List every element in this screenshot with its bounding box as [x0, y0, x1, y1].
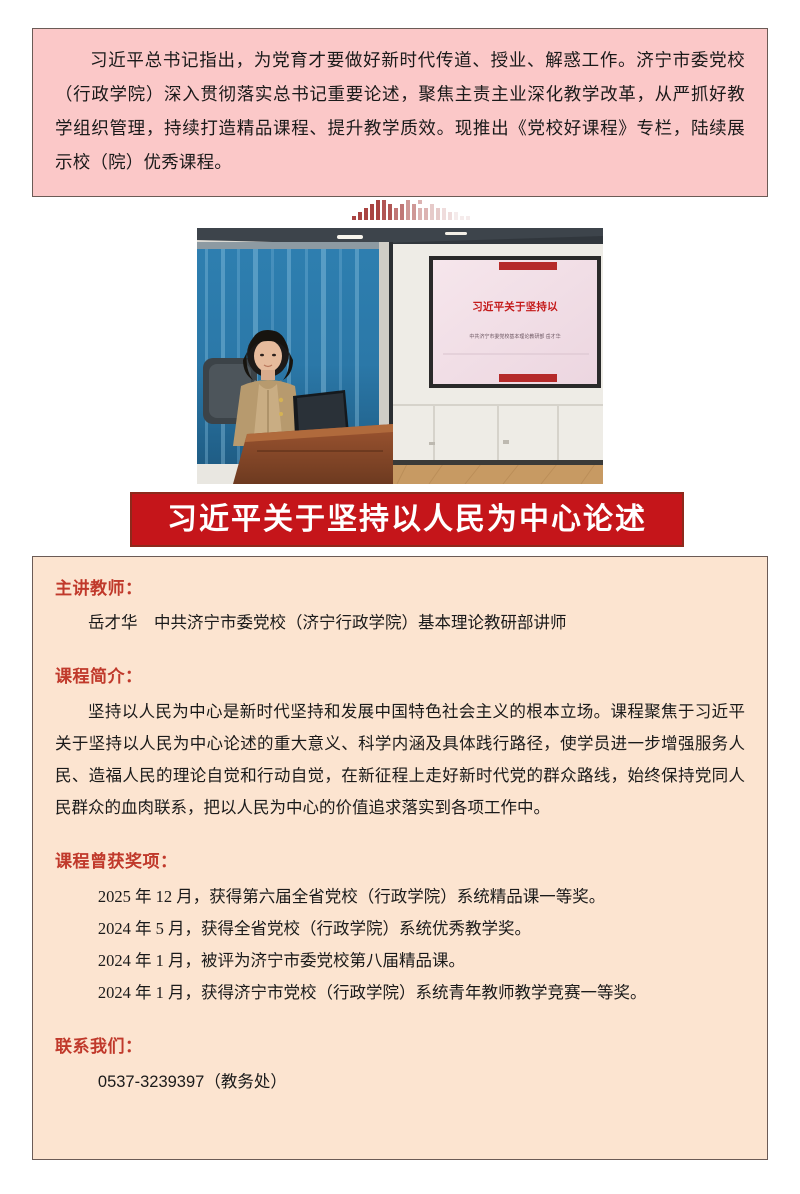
course-intro-body: 坚持以人民为中心是新时代坚持和发展中国特色社会主义的根本立场。课程聚焦于习近平关… [55, 696, 745, 825]
contact-phone: 0537-3239397（教务处） [55, 1066, 745, 1098]
course-title-banner: 习近平关于坚持以人民为中心论述 [130, 492, 684, 547]
award-item: 2025 年 12 月，获得第六届全省党校（行政学院）系统精品课一等奖。 [55, 881, 745, 913]
intro-banner: 习近平总书记指出，为党育才要做好新时代传道、授业、解惑工作。济宁市委党校（行政学… [32, 28, 768, 197]
lecturer-body: 岳才华 中共济宁市委党校（济宁行政学院）基本理论教研部讲师 [55, 607, 745, 639]
contact-heading: 联系我们： [55, 1031, 745, 1063]
spacer [55, 1009, 745, 1031]
awards-heading: 课程曾获奖项： [55, 846, 745, 878]
award-item: 2024 年 5 月，获得全省党校（行政学院）系统优秀教学奖。 [55, 913, 745, 945]
course-intro-heading: 课程简介： [55, 661, 745, 693]
dot-matrix-ornament-icon [352, 198, 472, 222]
award-item: 2024 年 1 月，获得济宁市党校（行政学院）系统青年教师教学竞赛一等奖。 [55, 977, 745, 1009]
course-detail-box: 主讲教师： 岳才华 中共济宁市委党校（济宁行政学院）基本理论教研部讲师 课程简介… [32, 556, 768, 1160]
lecturer-heading: 主讲教师： [55, 573, 745, 605]
course-title: 习近平关于坚持以人民为中心论述 [167, 505, 647, 535]
svg-text:习近平关于坚持以: 习近平关于坚持以 [472, 300, 558, 313]
spacer [55, 824, 745, 846]
spacer [55, 639, 745, 661]
award-item: 2024 年 1 月，被评为济宁市委党校第八届精品课。 [55, 945, 745, 977]
lecture-photo: 习近平关于坚持以 中共济宁市委党校基本理论教研部 岳才华 [197, 228, 603, 484]
svg-text:中共济宁市委党校基本理论教研部 岳才华: 中共济宁市委党校基本理论教研部 岳才华 [469, 333, 560, 340]
poster-page: 习近平总书记指出，为党育才要做好新时代传道、授业、解惑工作。济宁市委党校（行政学… [0, 0, 800, 1194]
intro-paragraph: 习近平总书记指出，为党育才要做好新时代传道、授业、解惑工作。济宁市委党校（行政学… [55, 43, 745, 180]
